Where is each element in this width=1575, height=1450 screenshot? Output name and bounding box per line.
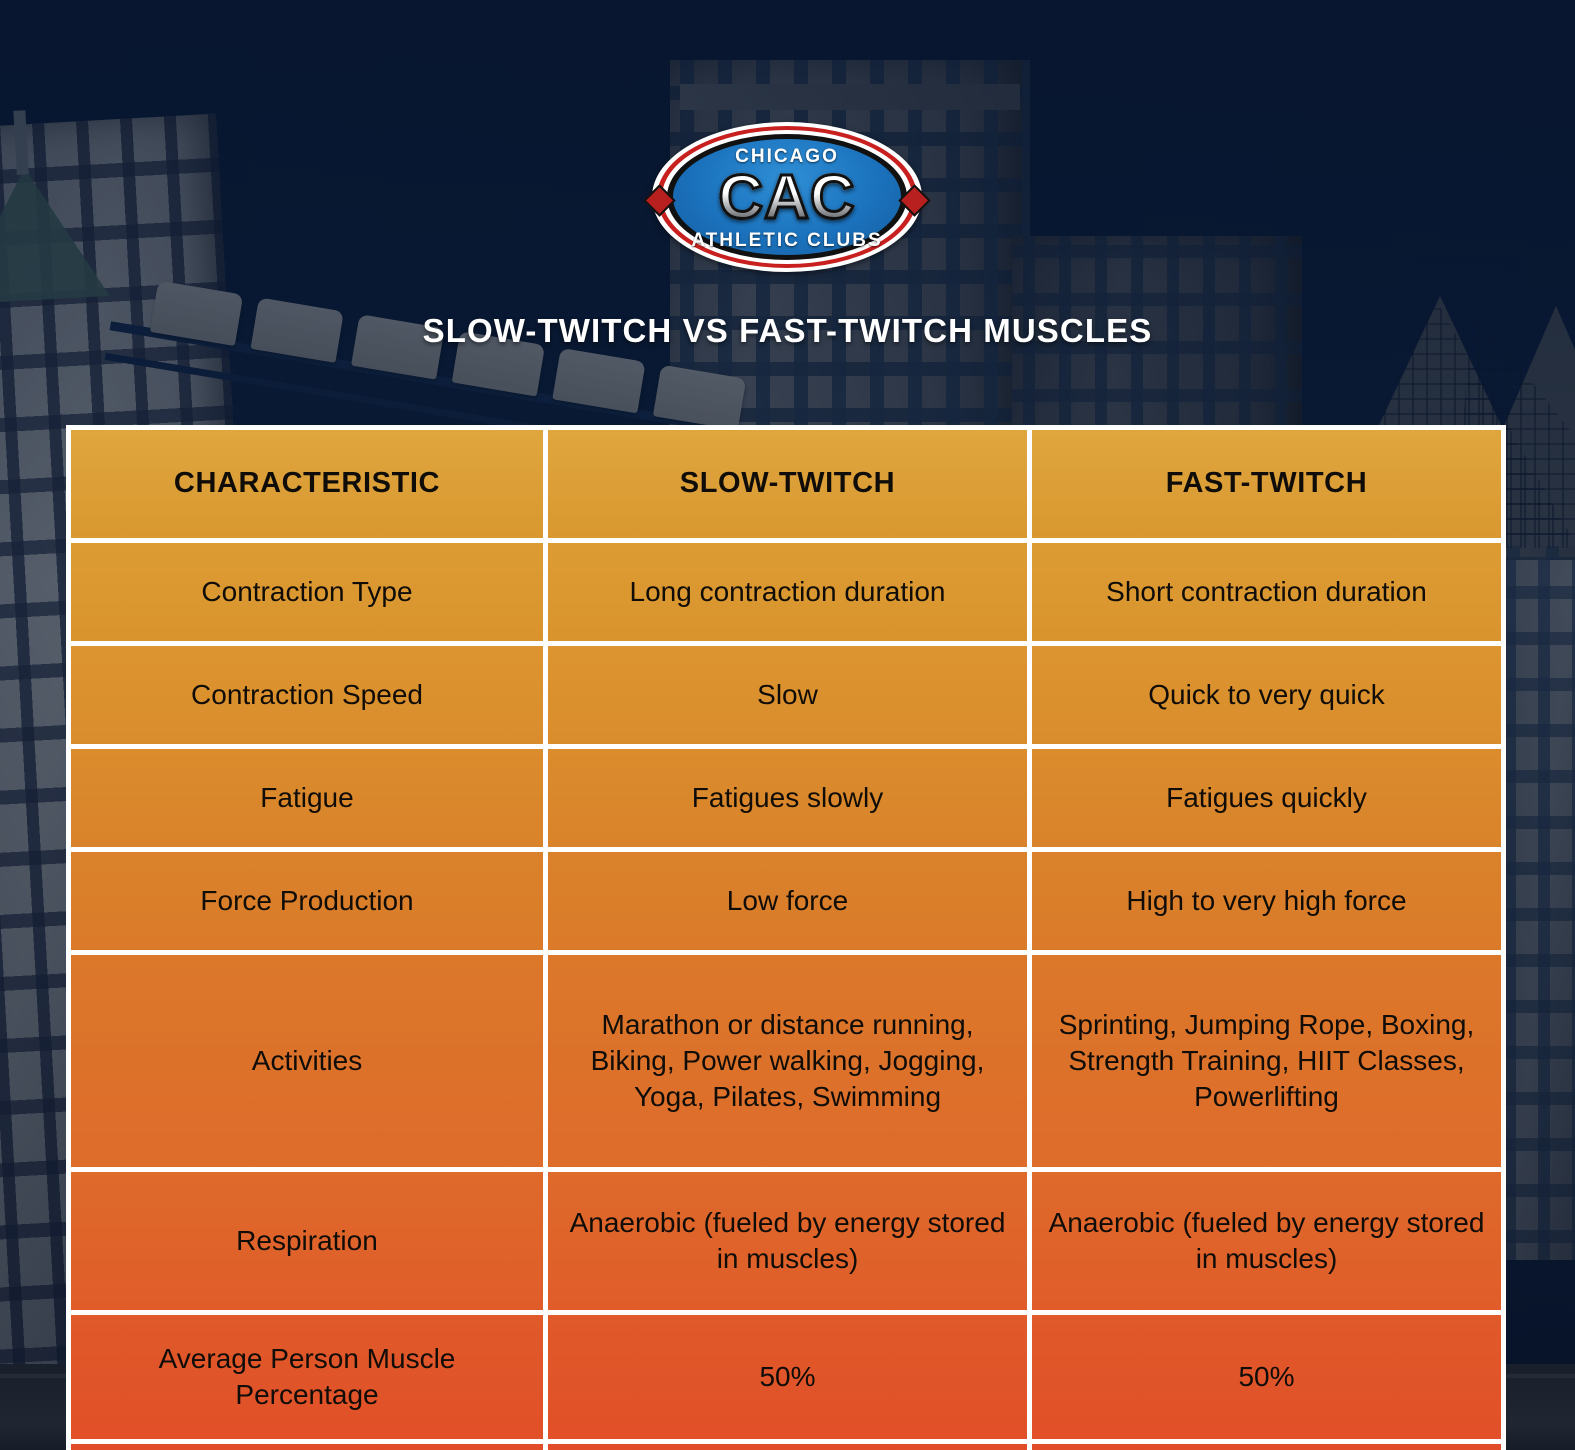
cell-slow-twitch: 70%-90%: [548, 1444, 1032, 1450]
column-header-slow-twitch: SLOW-TWITCH: [548, 425, 1032, 543]
cell-slow-twitch: Low force: [548, 852, 1032, 955]
column-header-characteristic: CHARACTERISTIC: [66, 425, 548, 543]
cell-fast-twitch: Fatigues quickly: [1032, 749, 1506, 852]
comparison-table-wrapper: CHARACTERISTIC SLOW-TWITCH FAST-TWITCH C…: [66, 425, 1506, 1450]
logo-monogram: CAC: [652, 167, 922, 229]
row-label: Average Person Muscle Percentage: [66, 1315, 548, 1444]
cell-fast-twitch: Sprinting, Jumping Rope, Boxing, Strengt…: [1032, 955, 1506, 1172]
comparison-table: CHARACTERISTIC SLOW-TWITCH FAST-TWITCH C…: [66, 425, 1506, 1450]
cell-slow-twitch: Anaerobic (fueled by energy stored in mu…: [548, 1172, 1032, 1315]
table-row: Activities Marathon or distance running,…: [66, 955, 1506, 1172]
row-label: Contraction Type: [66, 543, 548, 646]
row-label: Activities: [66, 955, 548, 1172]
row-label: Contraction Speed: [66, 646, 548, 749]
row-label: Force Production: [66, 852, 548, 955]
page-title: SLOW-TWITCH VS FAST-TWITCH MUSCLES: [0, 312, 1575, 350]
table-row: Contraction Speed Slow Quick to very qui…: [66, 646, 1506, 749]
cell-fast-twitch: High to very high force: [1032, 852, 1506, 955]
table-row: Force Production Low force High to very …: [66, 852, 1506, 955]
cell-slow-twitch: Marathon or distance running, Biking, Po…: [548, 955, 1032, 1172]
column-header-fast-twitch: FAST-TWITCH: [1032, 425, 1506, 543]
cell-fast-twitch: 50%: [1032, 1315, 1506, 1444]
row-label: Endurance Athlete Muscle Percentage: [66, 1444, 548, 1450]
table-header-row: CHARACTERISTIC SLOW-TWITCH FAST-TWITCH: [66, 425, 1506, 543]
infographic-page: CHICAGO CAC ATHLETIC CLUBS SLOW-TWITCH V…: [0, 0, 1575, 1450]
table-row: Fatigue Fatigues slowly Fatigues quickly: [66, 749, 1506, 852]
row-label: Respiration: [66, 1172, 548, 1315]
cell-slow-twitch: 50%: [548, 1315, 1032, 1444]
cell-slow-twitch: Long contraction duration: [548, 543, 1032, 646]
table-row: Endurance Athlete Muscle Percentage 70%-…: [66, 1444, 1506, 1450]
cell-slow-twitch: Fatigues slowly: [548, 749, 1032, 852]
cell-slow-twitch: Slow: [548, 646, 1032, 749]
table-row: Average Person Muscle Percentage 50% 50%: [66, 1315, 1506, 1444]
cell-fast-twitch: Quick to very quick: [1032, 646, 1506, 749]
cell-fast-twitch: Anaerobic (fueled by energy stored in mu…: [1032, 1172, 1506, 1315]
cac-logo[interactable]: CHICAGO CAC ATHLETIC CLUBS: [652, 122, 922, 272]
row-label: Fatigue: [66, 749, 548, 852]
cell-fast-twitch: Short contraction duration: [1032, 543, 1506, 646]
table-row: Respiration Anaerobic (fueled by energy …: [66, 1172, 1506, 1315]
table-row: Contraction Type Long contraction durati…: [66, 543, 1506, 646]
logo-bottom-text: ATHLETIC CLUBS: [652, 230, 922, 252]
cell-fast-twitch: 10%-30%: [1032, 1444, 1506, 1450]
